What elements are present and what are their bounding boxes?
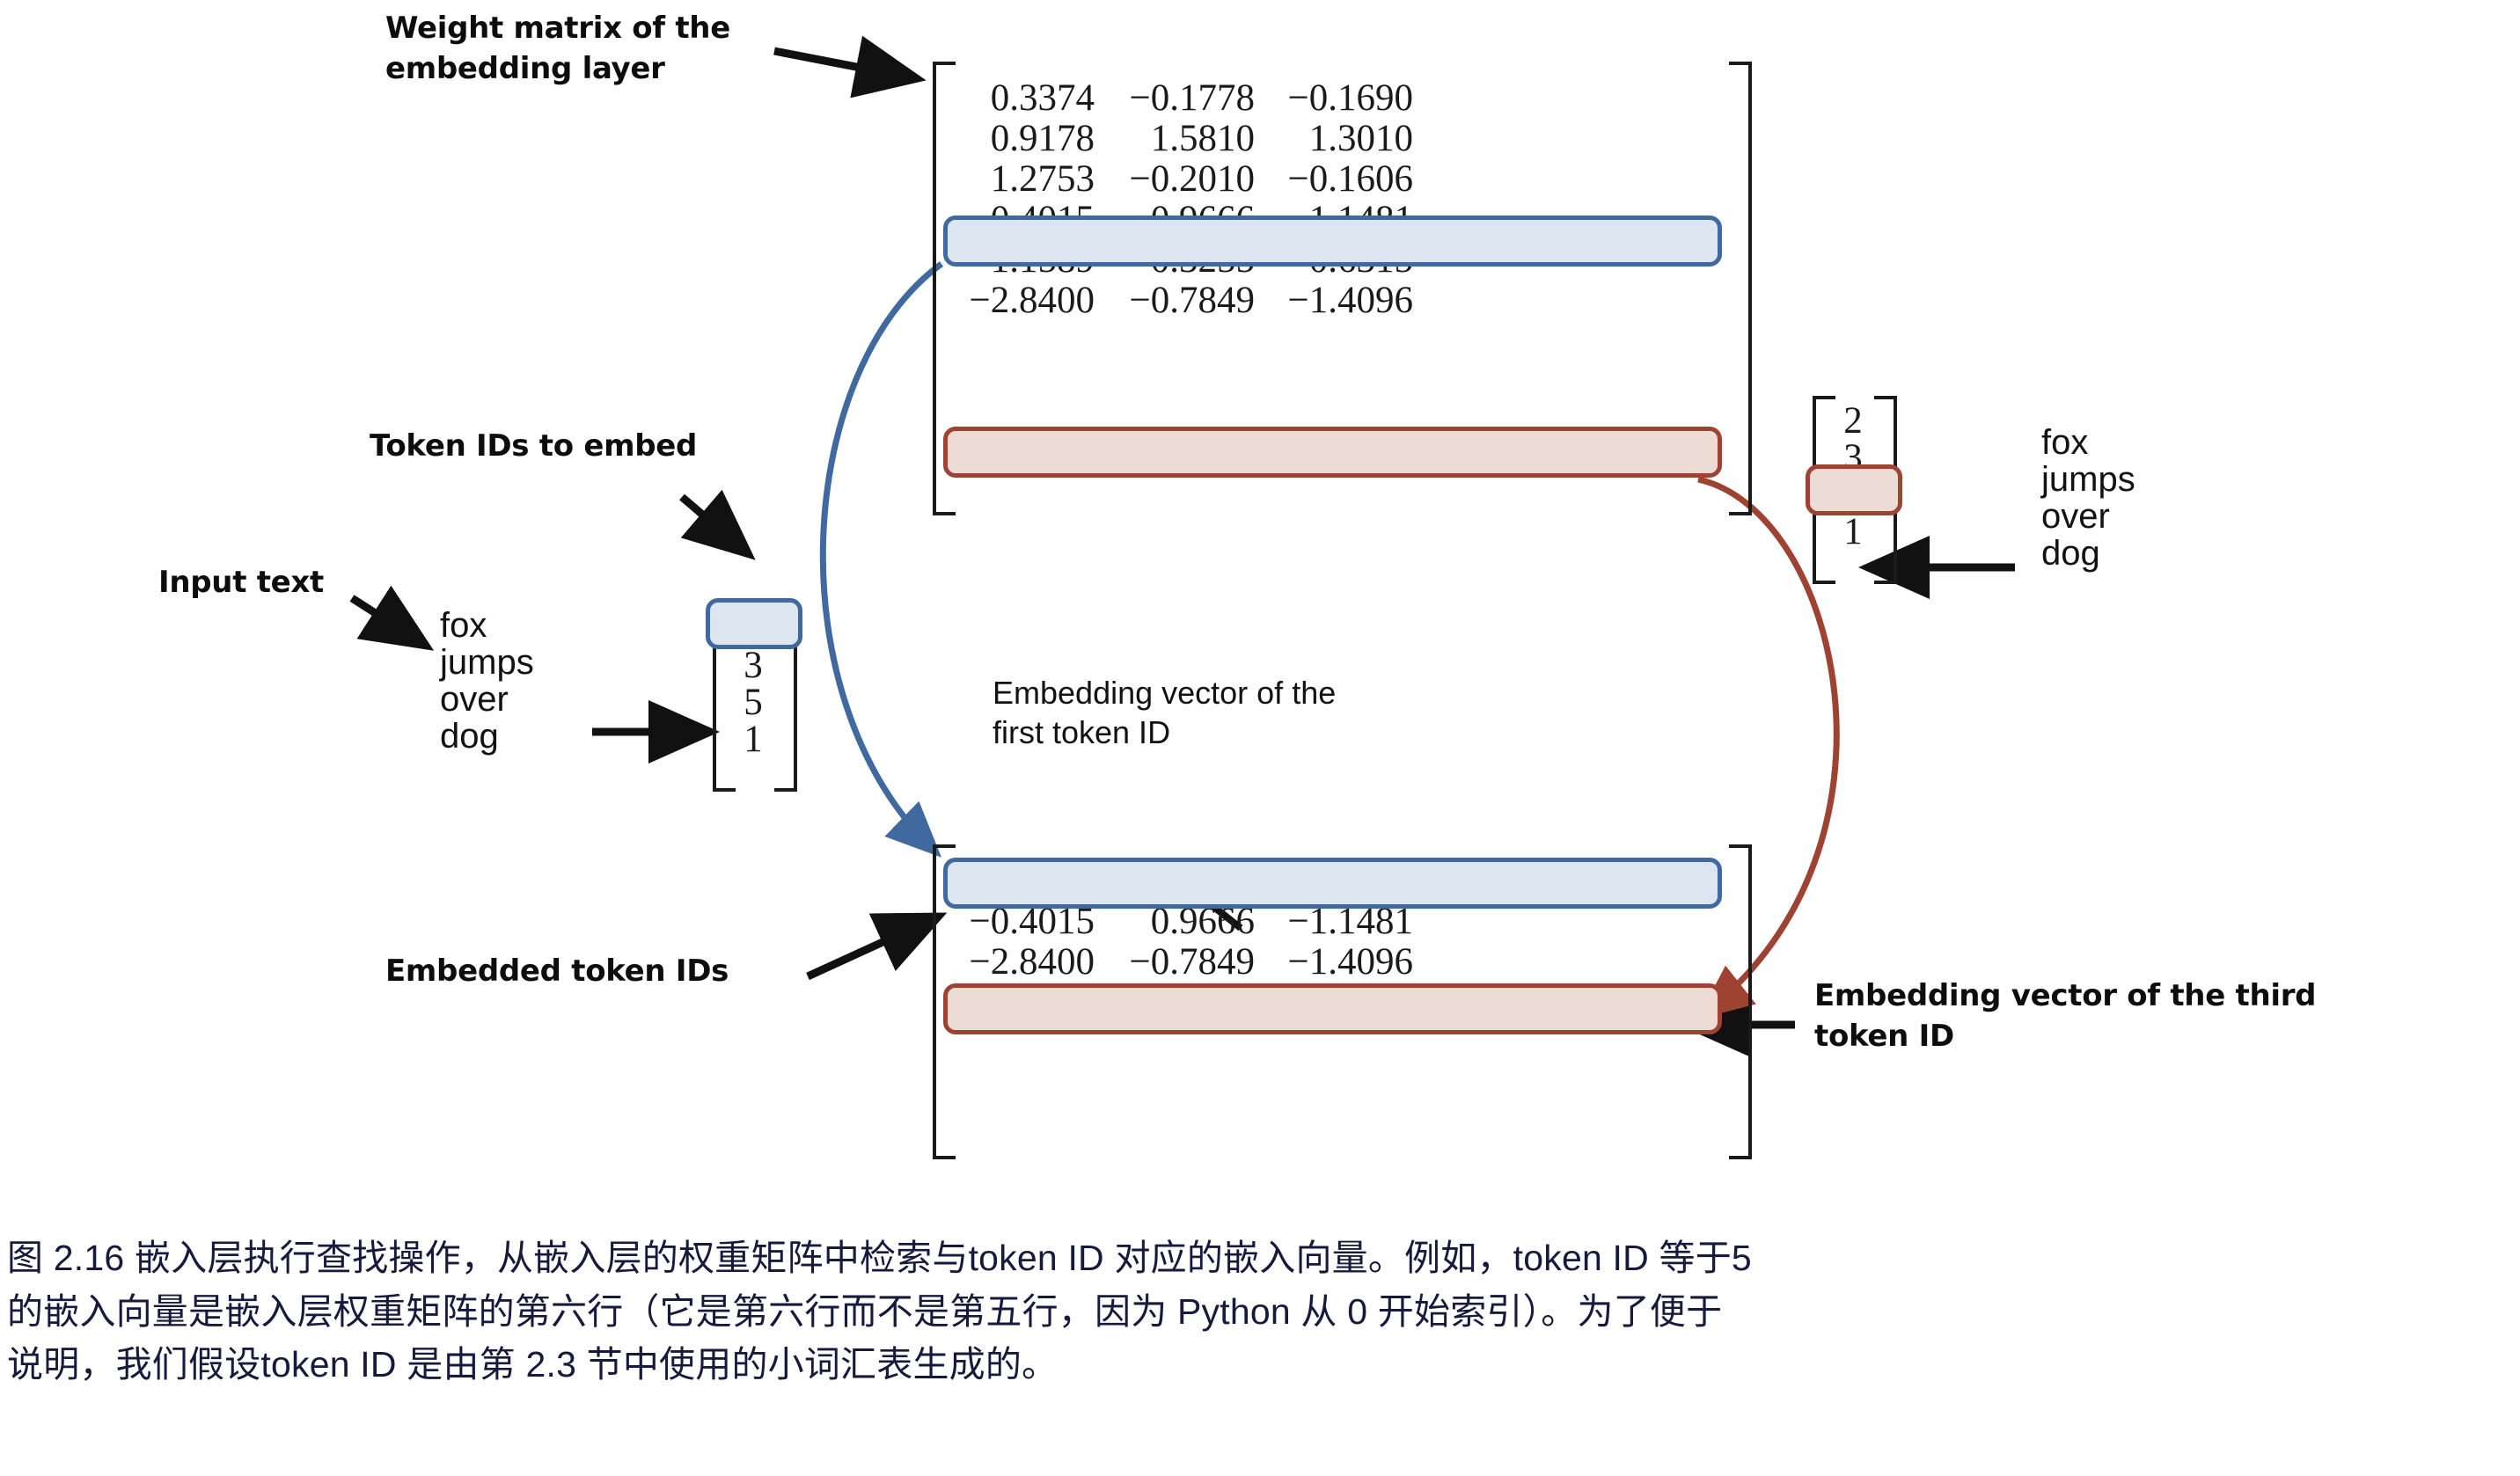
matrix-cell: 0.9666 <box>1100 198 1260 241</box>
matrix-row: −1.1589 0.3255 −0.6315 <box>961 239 1418 280</box>
matrix-row: −0.4015 0.9666 −1.1481 <box>961 901 1418 941</box>
matrix-cell: −2.8400 <box>961 940 1100 983</box>
token-id-cell: 2 <box>733 610 773 647</box>
matrix-cell: −0.1690 <box>1260 77 1418 120</box>
matrix-row: −2.8400 −0.7849 −1.4096 <box>961 941 1418 982</box>
label-weight-matrix: Weight matrix of the embedding layer <box>385 9 799 90</box>
input-word: over <box>440 681 598 718</box>
matrix-cell: 1.5810 <box>1100 117 1260 160</box>
bracket-right <box>1729 844 1752 1159</box>
matrix-cell: 1.2753 <box>961 157 1100 201</box>
token-id-cell: 3 <box>1833 440 1873 477</box>
matrix-cell: −0.7849 <box>1100 279 1260 322</box>
token-id-cell: 1 <box>733 721 773 758</box>
matrix-cell: −0.4015 <box>961 198 1100 241</box>
token-id-cell: 1 <box>1833 514 1873 551</box>
matrix-cell: −0.1606 <box>1260 859 1418 902</box>
matrix-cell: 0.9178 <box>961 981 1100 1024</box>
matrix-cell: −1.4096 <box>1260 279 1418 322</box>
matrix-cell: 1.2753 <box>961 859 1100 902</box>
matrix-cell: 0.9178 <box>961 117 1100 160</box>
label-embedded-token-ids: Embedded token IDs <box>385 952 843 992</box>
matrix-cell: −0.4015 <box>961 900 1100 943</box>
token-id-cell: 2 <box>1833 403 1873 440</box>
right-word: dog <box>2041 535 2253 572</box>
input-words-column: fox jumps over dog <box>440 607 598 755</box>
input-word: fox <box>440 607 598 644</box>
matrix-cell: −0.1778 <box>1100 77 1260 120</box>
caption-line: 图 2.16 嵌入层执行查找操作，从嵌入层的权重矩阵中检索与token ID 对… <box>7 1231 2515 1285</box>
right-words-column: fox jumps over dog <box>2041 424 2253 572</box>
matrix-cell: −0.2010 <box>1100 157 1260 201</box>
matrix-cell: −1.1481 <box>1260 900 1418 943</box>
matrix-row: −2.8400 −0.7849 −1.4096 <box>961 280 1418 320</box>
matrix-cell: 0.9666 <box>1100 900 1260 943</box>
matrix-row: 0.3374 −0.1778 −0.1690 <box>961 77 1418 118</box>
matrix-cell: 0.3255 <box>1100 238 1260 281</box>
matrix-cell: −0.7849 <box>1100 940 1260 983</box>
curve-blue-lookup <box>823 264 941 849</box>
matrix-cell: −1.1589 <box>961 238 1100 281</box>
bracket-right <box>774 603 797 792</box>
token-id-cell: 5 <box>733 684 773 721</box>
matrix-cell: 1.5810 <box>1100 981 1260 1024</box>
matrix-cell: 0.3374 <box>961 77 1100 120</box>
matrix-cell: −1.1481 <box>1260 198 1418 241</box>
right-word: over <box>2041 498 2253 535</box>
right-word: jumps <box>2041 461 2253 498</box>
matrix-cell: 1.3010 <box>1260 117 1418 160</box>
matrix-cell: 1.3010 <box>1260 981 1418 1024</box>
label-token-ids-to-embed: Token IDs to embed <box>370 427 809 467</box>
label-embedding-vector-third: Embedding vector of the third token ID <box>1814 976 2430 1057</box>
arrow-token-ids <box>682 497 744 550</box>
bracket-left <box>933 844 956 1159</box>
right-word: fox <box>2041 424 2253 461</box>
input-word: dog <box>440 718 598 755</box>
matrix-cell: −0.1606 <box>1260 157 1418 201</box>
caption-line: 说明，我们假设token ID 是由第 2.3 节中使用的小词汇表生成的。 <box>7 1338 2515 1392</box>
bracket-right <box>1874 396 1897 584</box>
token-id-cell: 5 <box>1833 477 1873 514</box>
caption-line: 的嵌入向量是嵌入层权重矩阵的第六行（它是第六行而不是第五行，因为 Python … <box>7 1285 2515 1339</box>
matrix-cell: −0.2010 <box>1100 859 1260 902</box>
bracket-left <box>933 62 956 515</box>
matrix-cell: −2.8400 <box>961 279 1100 322</box>
matrix-row: 1.2753 −0.2010 −0.1606 <box>961 860 1418 901</box>
matrix-cell: −1.4096 <box>1260 940 1418 983</box>
figure-caption: 图 2.16 嵌入层执行查找操作，从嵌入层的权重矩阵中检索与token ID 对… <box>7 1231 2515 1392</box>
figure-canvas: Weight matrix of the embedding layer Tok… <box>0 0 2520 1476</box>
label-embedding-vector-first: Embedding vector of the first token ID <box>993 673 1564 752</box>
matrix-cell: −0.6315 <box>1260 238 1418 281</box>
matrix-row: 0.9178 1.5810 1.3010 <box>961 982 1418 1022</box>
matrix-row: −0.4015 0.9666 −1.1481 <box>961 199 1418 239</box>
arrow-input-text <box>352 598 421 642</box>
input-word: jumps <box>440 644 598 681</box>
token-id-cell: 3 <box>733 647 773 684</box>
matrix-row: 1.2753 −0.2010 −0.1606 <box>961 158 1418 199</box>
matrix-row: 0.9178 1.5810 1.3010 <box>961 118 1418 158</box>
highlight-weight-row-red <box>943 427 1722 478</box>
bracket-right <box>1729 62 1752 515</box>
label-input-text: Input text <box>158 563 405 603</box>
